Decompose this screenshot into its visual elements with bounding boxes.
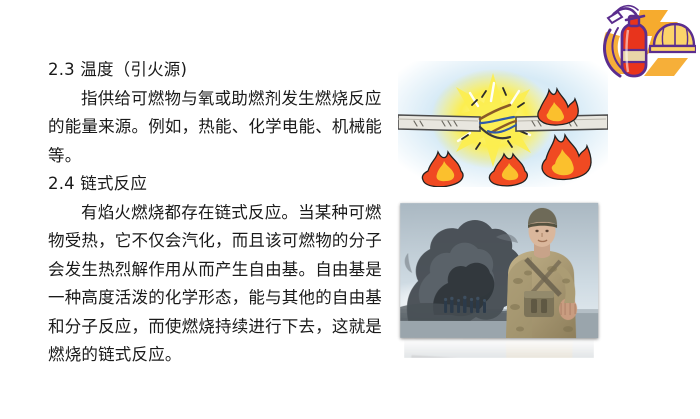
section-2-3-paragraph: 指供给可燃物与氧或助燃剂发生燃烧反应 的能量来源。例如，热能、化学电能、机械能 … [48, 85, 384, 171]
paragraph-line: 会发生热烈解作用从而产生自由基。自由基是 [48, 256, 384, 285]
paragraph-line: 有焰火燃烧都存在链式反应。当某种可燃 [48, 199, 384, 228]
section-2-4-heading: 2.4 链式反应 [48, 170, 384, 199]
paragraph-line: 等。 [48, 142, 384, 171]
presentation-slide: 2.3 温度（引火源) 指供给可燃物与氧或助燃剂发生燃烧反应 的能量来源。例如，… [0, 0, 700, 419]
paragraph-line: 的能量来源。例如，热能、化学电能、机械能 [48, 113, 384, 142]
electrical-short-circuit-clipart [398, 61, 608, 187]
paragraph-line: 燃烧的链式反应。 [48, 341, 384, 370]
section-2-3-heading: 2.3 温度（引火源) [48, 56, 384, 85]
paragraph-line: 一种高度活泼的化学形态，能与其他的自由基 [48, 284, 384, 313]
fire-extinguisher-logo [596, 2, 696, 82]
photo-frame [400, 203, 598, 338]
paragraph-line: 指供给可燃物与氧或助燃剂发生燃烧反应 [48, 85, 384, 114]
photo-reflection [404, 338, 594, 358]
paragraph-line: 物受热，它不仅会汽化，而且该可燃物的分子 [48, 227, 384, 256]
soldier-smoke-plume-photo [398, 200, 600, 358]
paragraph-line: 和分子反应，而使燃烧持续进行下去，这就是 [48, 313, 384, 342]
slide-text-column: 2.3 温度（引火源) 指供给可燃物与氧或助燃剂发生燃烧反应 的能量来源。例如，… [48, 56, 384, 370]
section-2-4-paragraph: 有焰火燃烧都存在链式反应。当某种可燃 物受热，它不仅会汽化，而且该可燃物的分子 … [48, 199, 384, 370]
